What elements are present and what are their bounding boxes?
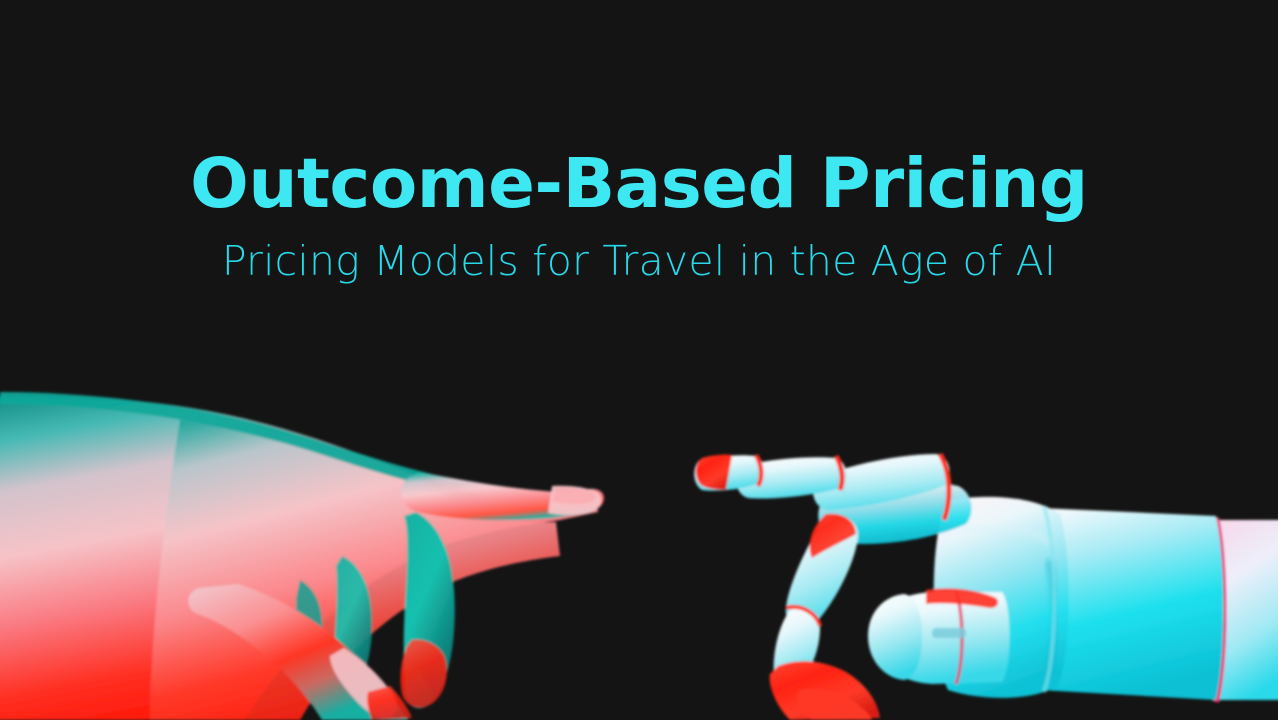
- presentation-slide: Outcome-Based Pricing Pricing Models for…: [0, 0, 1278, 720]
- robot-lower-finger-slot: [932, 628, 966, 638]
- robot-index-tip-red: [696, 455, 732, 490]
- hero-image-duotone-hands: [0, 0, 1278, 720]
